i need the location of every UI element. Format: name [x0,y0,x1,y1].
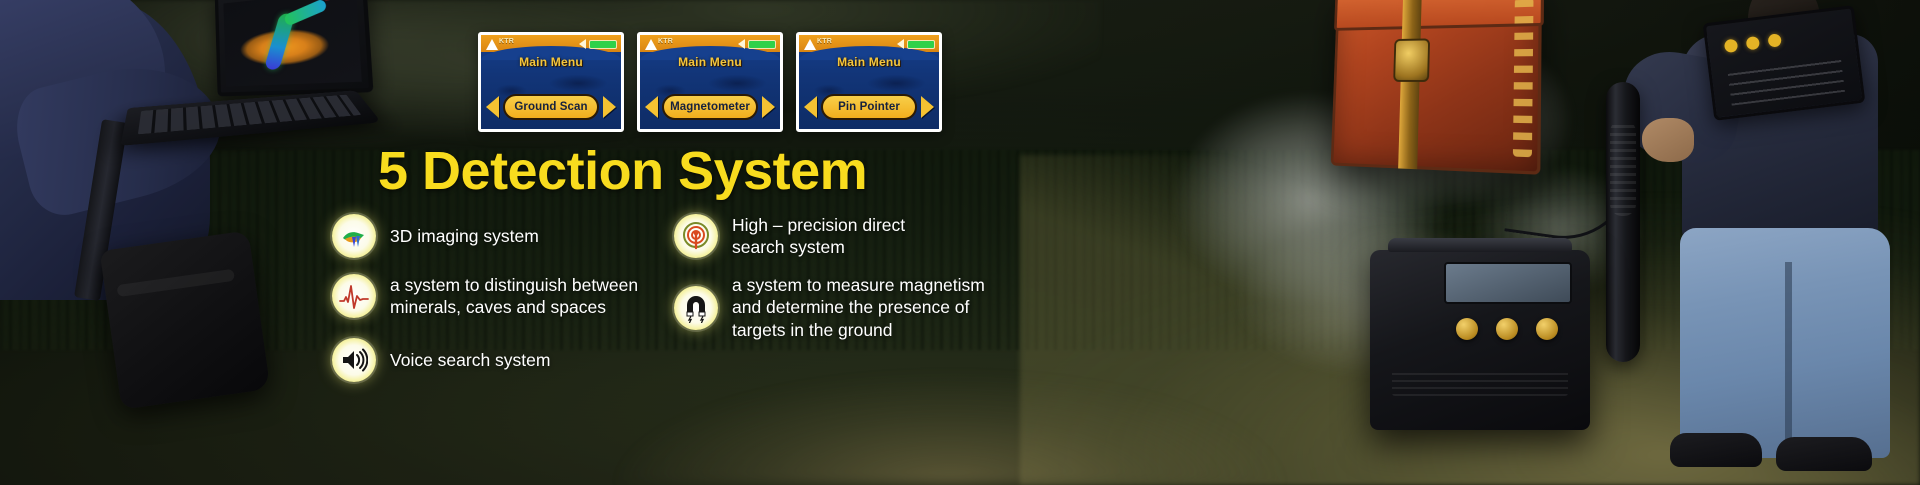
operator-right-jeans [1680,228,1890,458]
hud-nav: Ground Scan [486,94,616,120]
left-arrow-icon[interactable] [645,96,658,118]
hud-logo-text: KTR [817,38,832,45]
3d-terrain-icon [332,214,376,258]
feature-item-magnetometry: a system to measure magnetism and determ… [674,274,985,341]
equipment-bag [100,230,271,409]
chest-studs [1513,0,1534,157]
speaker-icon [332,338,376,382]
speaker-icon [897,39,904,49]
feature-item-voice-search: Voice search system [332,338,550,382]
feature-item-mineral-discrimination: a system to distinguish between minerals… [332,274,638,319]
hud-title: Main Menu [640,55,780,69]
feature-item-3d-imaging: 3D imaging system [332,214,539,258]
battery-icon [748,40,776,49]
search-probe [1606,82,1640,362]
laptop-keyboard [138,95,361,135]
tablet-readout [1727,54,1845,106]
operator-right-hand [1642,118,1694,162]
device-screen [1444,262,1572,304]
handheld-tablet [1703,5,1866,121]
speaker-icon [579,39,586,49]
hud-status-icons [738,39,776,49]
feature-label: 3D imaging system [390,225,539,247]
device-knobs [1456,318,1558,340]
hud-status-icons [897,39,935,49]
feature-label: Voice search system [390,349,550,371]
waveform-icon [332,274,376,318]
app-logo-icon [802,36,818,51]
battery-icon [589,40,617,49]
chest-lock-icon [1393,38,1430,82]
left-arrow-icon[interactable] [804,96,817,118]
hud-title: Main Menu [799,55,939,69]
hud-nav: Magnetometer [645,94,775,120]
chest-lid [1334,0,1544,31]
hud-mode-button[interactable]: Pin Pointer [821,94,917,120]
hud-logo-text: KTR [499,38,514,45]
laptop-base [120,90,381,146]
operator-right-shoe-right [1776,437,1872,471]
ground-scanner-device [1370,250,1590,430]
laptop [128,0,378,161]
operator-left [0,0,310,485]
hud-title: Main Menu [481,55,621,69]
right-arrow-icon[interactable] [762,96,775,118]
treasure-chest [1331,0,1542,175]
hud-panel-pin-pointer[interactable]: KTR Main Menu Pin Pointer [796,32,942,132]
battery-icon [907,40,935,49]
device-vent [1392,370,1568,396]
hud-nav: Pin Pointer [804,94,934,120]
hud-status-icons [579,39,617,49]
speaker-icon [738,39,745,49]
feature-label: a system to measure magnetism and determ… [732,274,985,341]
feature-label: High – precision direct search system [732,214,905,259]
feature-item-direct-search: High – precision direct search system [674,214,905,259]
operator-right-shoe-left [1670,433,1762,467]
device-handle [1388,238,1572,252]
3d-scan-render [223,0,361,87]
radar-target-icon [674,214,718,258]
app-logo-icon [484,36,500,51]
left-arrow-icon[interactable] [486,96,499,118]
page-title: 5 Detection System [378,144,867,198]
detection-system-banner: KTR Main Menu Ground Scan KTR Main Menu [0,0,1920,485]
hud-panel-ground-scan[interactable]: KTR Main Menu Ground Scan [478,32,624,132]
tablet-indicator-lights [1724,33,1782,53]
laptop-screen [215,0,374,96]
hud-panel-row: KTR Main Menu Ground Scan KTR Main Menu [478,32,942,132]
hud-logo-text: KTR [658,38,673,45]
right-arrow-icon[interactable] [603,96,616,118]
hud-panel-magnetometer[interactable]: KTR Main Menu Magnetometer [637,32,783,132]
hud-mode-button[interactable]: Ground Scan [503,94,599,120]
app-logo-icon [643,36,659,51]
feature-label: a system to distinguish between minerals… [390,274,638,319]
hud-mode-button[interactable]: Magnetometer [662,94,758,120]
magnet-icon [674,286,718,330]
right-arrow-icon[interactable] [921,96,934,118]
